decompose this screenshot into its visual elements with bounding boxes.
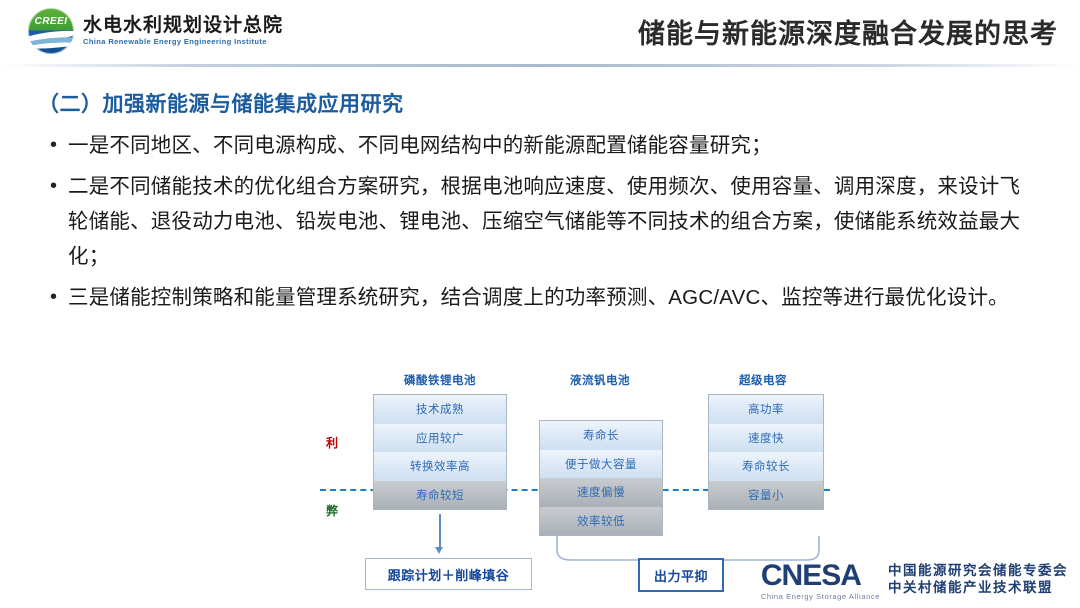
creei-logo-mark-text: CREEI	[28, 16, 74, 27]
bullet-list: • 一是不同地区、不同电源构成、不同电网结构中的新能源配置储能容量研究； • 二…	[50, 128, 1040, 321]
cnesa-tagline: China Energy Storage Alliance	[761, 593, 880, 601]
creei-logo: CREEI 水电水利规划设计总院 China Renewable Energy …	[28, 8, 283, 54]
cnesa-wordmark-text: CNESA	[761, 559, 861, 592]
page-title: 储能与新能源深度融合发展的思考	[638, 12, 1058, 51]
column-title-vanadium: 液流钒电池	[535, 372, 665, 388]
header-divider	[0, 64, 1080, 67]
bullet-marker: •	[50, 280, 68, 314]
column-title-lifepo4: 磷酸铁锂电池	[370, 372, 510, 388]
cnesa-name-line2: 中关村储能产业技术联盟	[888, 580, 1068, 597]
bullet-text: 三是储能控制策略和能量管理系统研究，结合调度上的功率预测、AGC/AVC、监控等…	[68, 280, 1009, 315]
slide: CREEI 水电水利规划设计总院 China Renewable Energy …	[0, 0, 1080, 608]
creei-logo-icon: CREEI	[28, 8, 74, 54]
result-box-peak-shaving: 跟踪计划＋削峰填谷	[365, 558, 532, 590]
pro-item: 便于做大容量	[540, 450, 662, 479]
pro-item: 寿命长	[540, 421, 662, 450]
pro-item: 技术成熟	[374, 395, 506, 424]
column-title-supercapacitor: 超级电容	[703, 372, 823, 388]
bullet-marker: •	[50, 169, 68, 203]
tech-box-lifepo4: 技术成熟 应用较广 转换效率高 寿命较短	[373, 394, 507, 510]
con-item: 容量小	[709, 481, 823, 510]
cnesa-name-line1: 中国能源研究会储能专委会	[888, 563, 1068, 580]
tech-box-vanadium: 寿命长 便于做大容量 速度偏慢 效率较低	[539, 420, 663, 536]
tech-box-supercapacitor: 高功率 速度快 寿命较长 容量小	[708, 394, 824, 510]
cnesa-logo: CNESA China Energy Storage Alliance 中国能源…	[761, 561, 1068, 601]
arrow-line-lifepo4	[439, 514, 441, 548]
list-item: • 一是不同地区、不同电源构成、不同电网结构中的新能源配置储能容量研究；	[50, 128, 1040, 163]
list-item: • 二是不同储能技术的优化组合方案研究，根据电池响应速度、使用频次、使用容量、调…	[50, 169, 1040, 274]
pro-item: 转换效率高	[374, 452, 506, 481]
pro-item: 寿命较长	[709, 452, 823, 481]
creei-name-en: China Renewable Energy Engineering Insti…	[83, 38, 283, 46]
creei-logo-text: 水电水利规划设计总院 China Renewable Energy Engine…	[83, 16, 283, 46]
result-box-output-smoothing: 出力平抑	[638, 558, 724, 592]
cnesa-logo-left: CNESA China Energy Storage Alliance	[761, 561, 880, 601]
list-item: • 三是储能控制策略和能量管理系统研究，结合调度上的功率预测、AGC/AVC、监…	[50, 280, 1040, 315]
pro-item: 应用较广	[374, 424, 506, 453]
cnesa-wordmark: CNESA	[761, 561, 880, 591]
con-item: 效率较低	[540, 507, 662, 536]
bullet-text: 二是不同储能技术的优化组合方案研究，根据电池响应速度、使用频次、使用容量、调用深…	[68, 169, 1040, 274]
pro-item: 高功率	[709, 395, 823, 424]
con-item: 速度偏慢	[540, 478, 662, 507]
slide-header: CREEI 水电水利规划设计总院 China Renewable Energy …	[0, 0, 1080, 62]
section-title: （二）加强新能源与储能集成应用研究	[38, 88, 404, 118]
creei-name-cn: 水电水利规划设计总院	[83, 16, 283, 35]
cnesa-logo-right: 中国能源研究会储能专委会 中关村储能产业技术联盟	[888, 563, 1068, 597]
side-label-cons: 弊	[326, 502, 339, 519]
pro-item: 速度快	[709, 424, 823, 453]
bullet-text: 一是不同地区、不同电源构成、不同电网结构中的新能源配置储能容量研究；	[68, 128, 772, 163]
bullet-marker: •	[50, 128, 68, 162]
con-item: 寿命较短	[374, 481, 506, 510]
side-label-pros: 利	[326, 434, 339, 451]
arrow-head-lifepo4	[435, 547, 443, 554]
